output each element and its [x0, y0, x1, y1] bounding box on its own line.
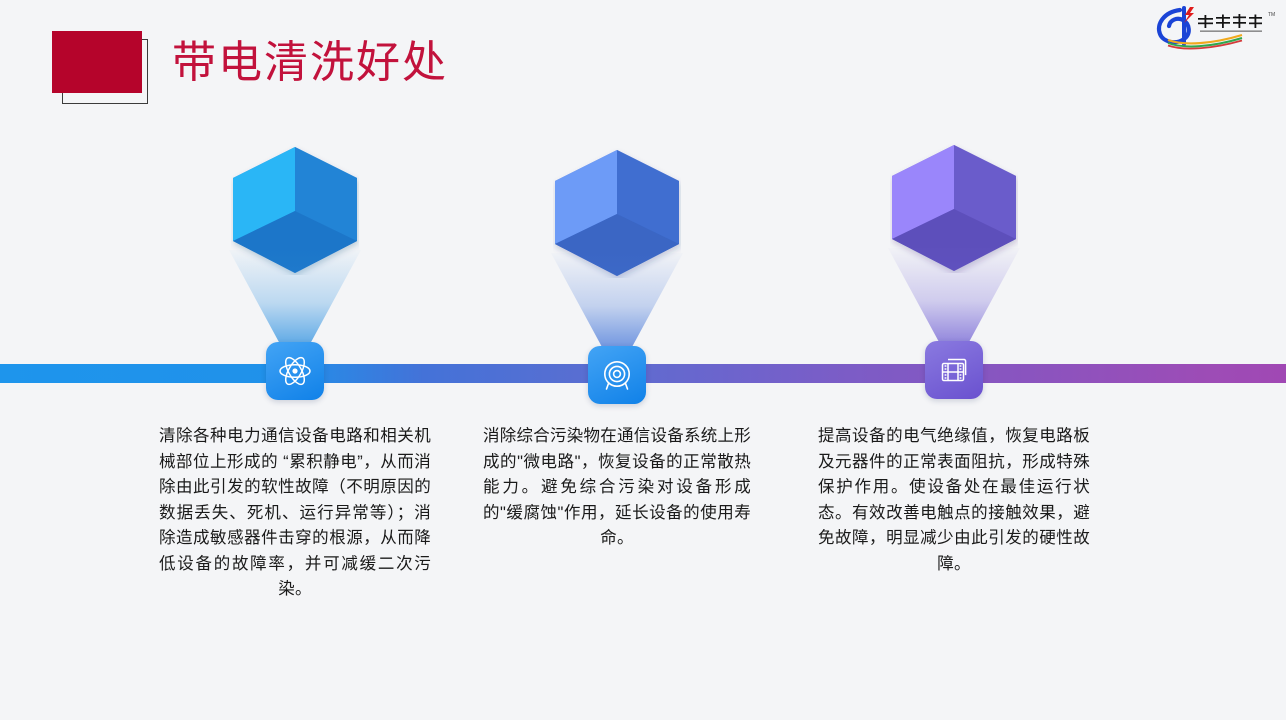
benefit-icon-tile-3[interactable] — [925, 341, 983, 399]
atom-icon — [278, 354, 312, 388]
benefit-text-2: 消除综合污染物在通信设备系统上形成的"微电路"，恢复设备的正常散热能力。避免综合… — [483, 424, 751, 552]
slide-root: 带电清洗好处 — [0, 0, 1286, 720]
benefit-column-2: 消除综合污染物在通信设备系统上形成的"微电路"，恢复设备的正常散热能力。避免综合… — [447, 0, 787, 720]
film-strip-icon — [937, 353, 971, 387]
benefit-icon-tile-2[interactable] — [588, 346, 646, 404]
svg-text:TM: TM — [1268, 12, 1275, 18]
benefit-column-3: 提高设备的电气绝缘值，恢复电路板及元器件的正常表面阻抗，形成特殊保护作用。使设备… — [784, 0, 1124, 720]
benefit-column-1: 清除各种电力通信设备电路和相关机械部位上形成的 “累积静电”，从而消除由此引发的… — [125, 0, 465, 720]
logo-icon: TM — [1150, 4, 1278, 50]
company-logo: TM — [1150, 4, 1278, 50]
target-icon — [600, 358, 634, 392]
benefit-text-3: 提高设备的电气绝缘值，恢复电路板及元器件的正常表面阻抗，形成特殊保护作用。使设备… — [818, 424, 1090, 577]
benefit-text-1: 清除各种电力通信设备电路和相关机械部位上形成的 “累积静电”，从而消除由此引发的… — [159, 424, 431, 603]
benefit-icon-tile-1[interactable] — [266, 342, 324, 400]
